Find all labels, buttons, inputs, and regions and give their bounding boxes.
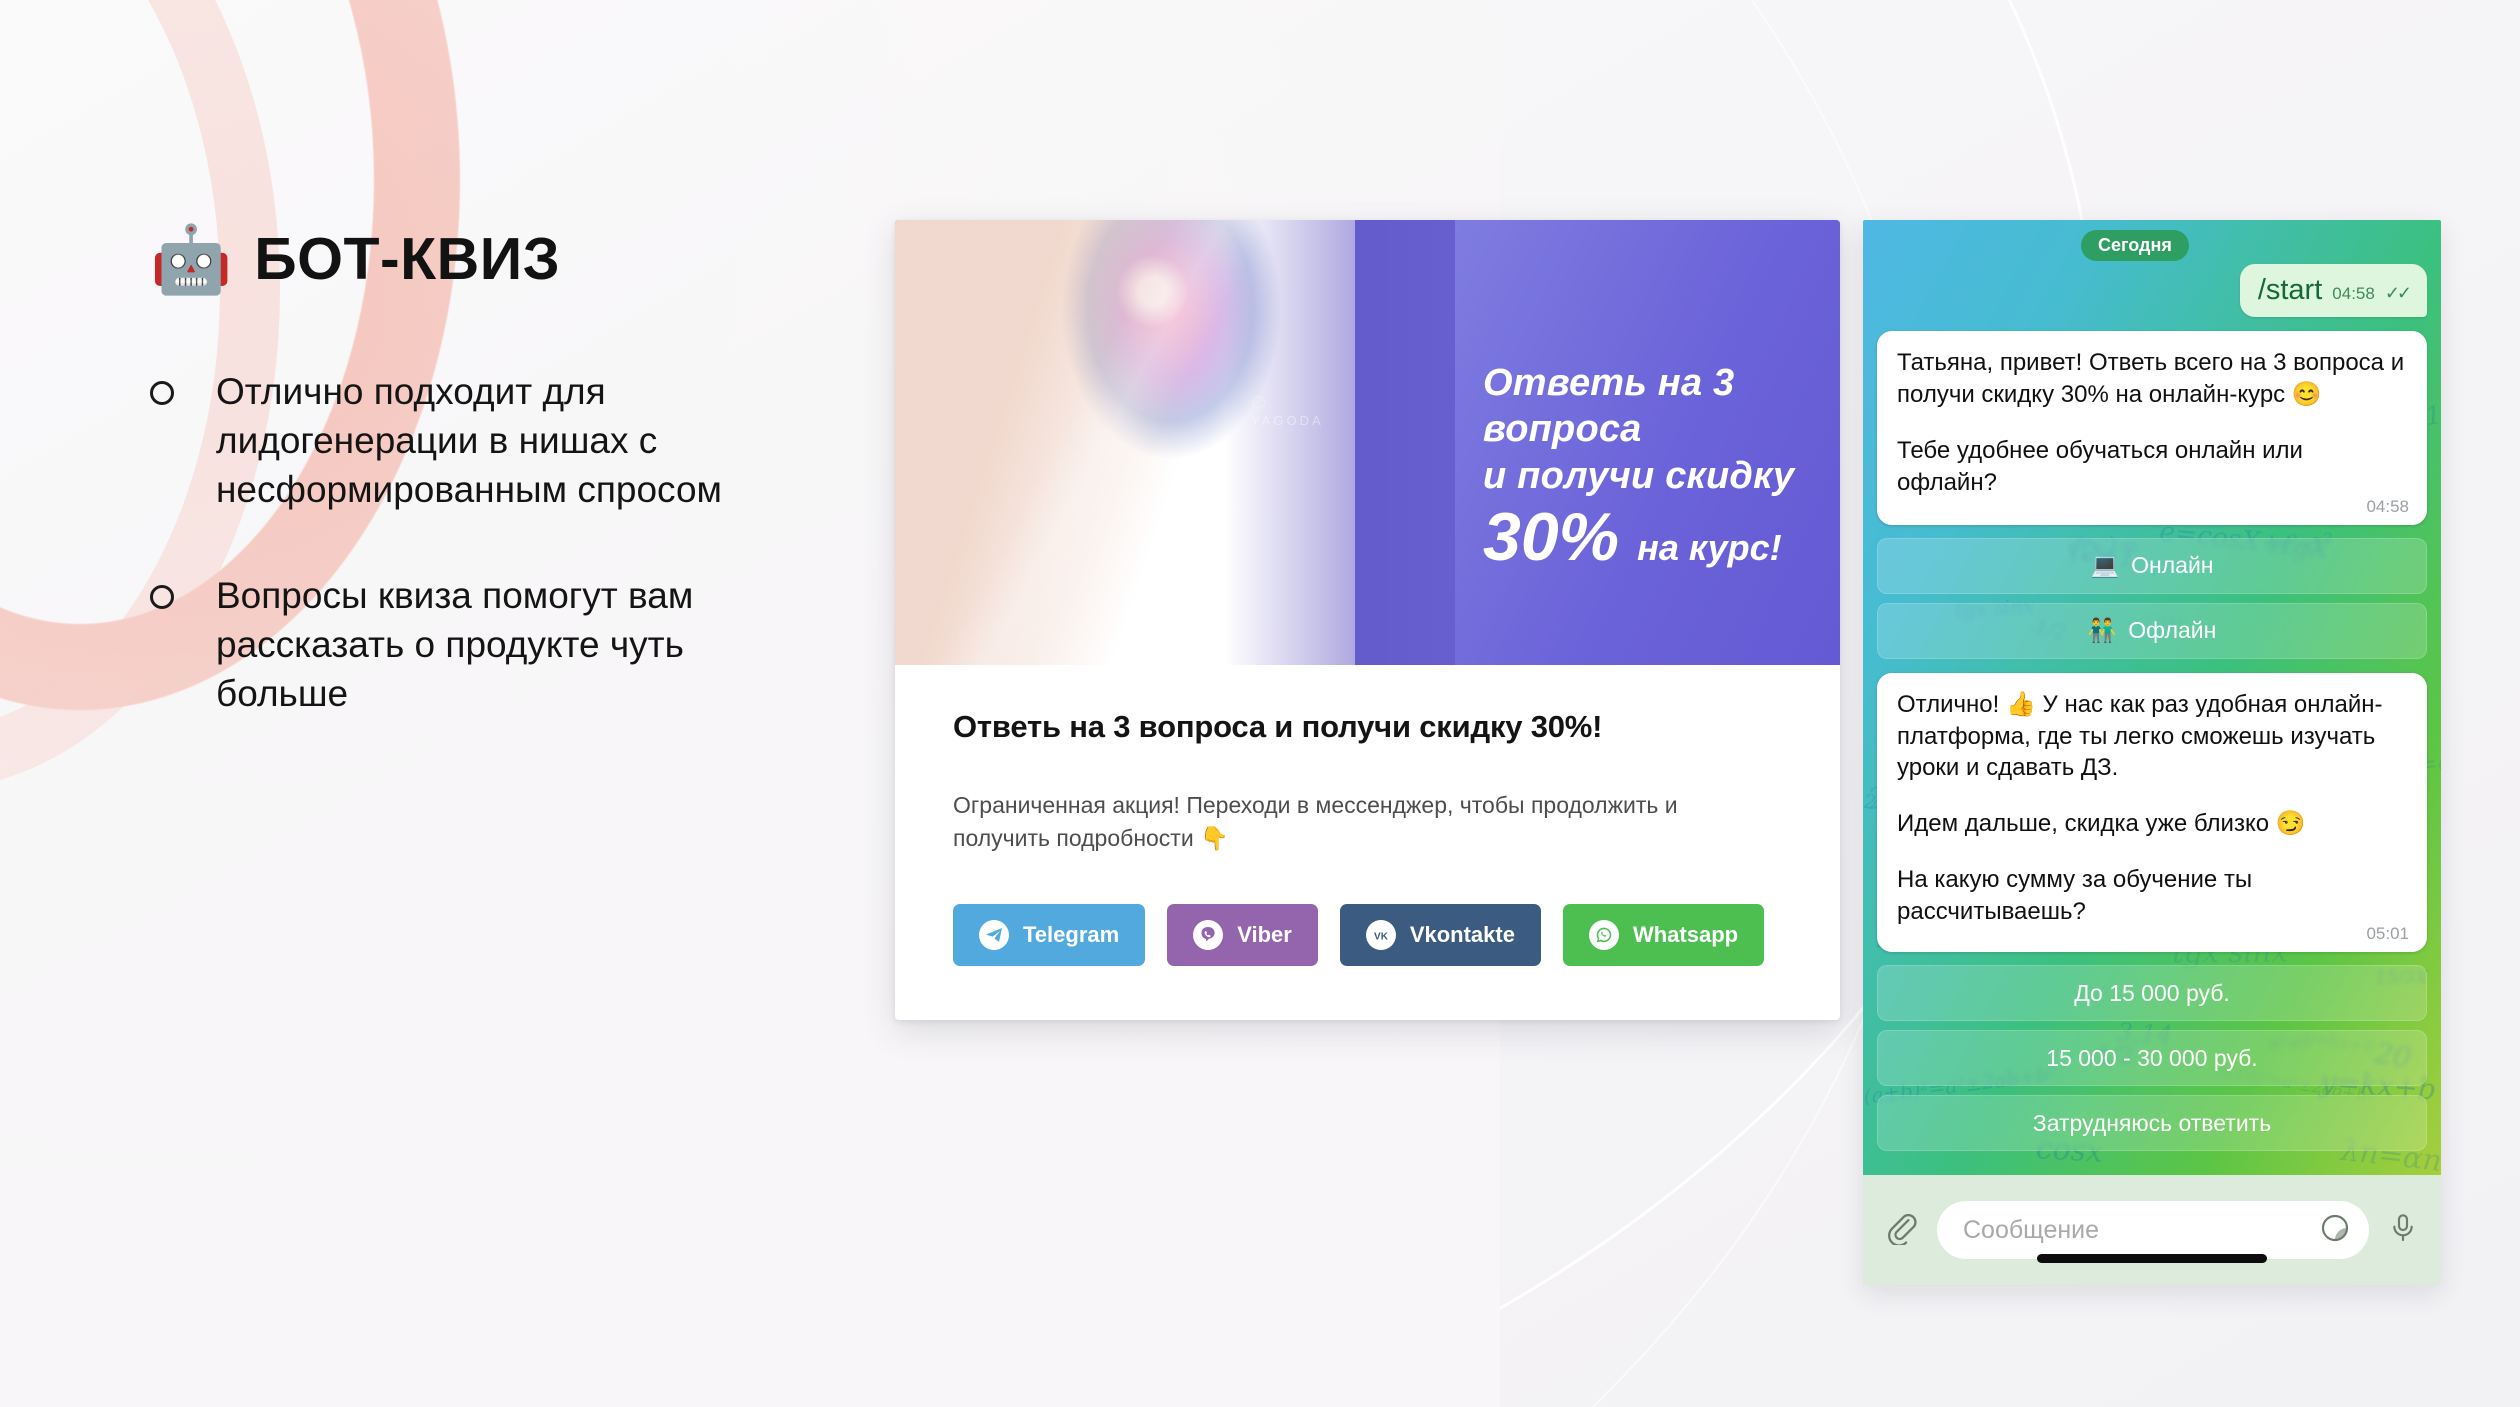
bullet-marker-icon: [150, 585, 174, 609]
reply-button-label: Затрудняюсь ответить: [2033, 1110, 2271, 1137]
slide-left-column: 🤖 БОТ-КВИЗ Отлично подходит для лидогене…: [150, 225, 790, 774]
telegram-button-label: Telegram: [1023, 922, 1119, 948]
robot-face-icon: 🤖: [150, 226, 232, 292]
paragraph-gap: [1897, 784, 2407, 808]
promo-subtext: Ограниченная акция! Переходи в мессендже…: [953, 789, 1773, 856]
bot-message-time: 04:58: [2366, 497, 2409, 517]
whatsapp-button-label: Whatsapp: [1633, 922, 1738, 948]
telegram-button[interactable]: Telegram: [953, 904, 1145, 966]
bot-message-time: 05:01: [2366, 924, 2409, 944]
reply-button-budget-low[interactable]: До 15 000 руб.: [1877, 965, 2427, 1021]
viber-button-label: Viber: [1237, 922, 1292, 948]
banner-percent-row: 30% на курс!: [1483, 503, 1814, 571]
bullet-list: Отлично подходит для лидогенерации в ниш…: [150, 367, 790, 718]
bot-message-paragraph: Тебе удобнее обучаться онлайн или офлайн…: [1897, 435, 2407, 499]
brand-watermark: ◌ YAGODA: [1251, 390, 1324, 428]
telegram-icon: [979, 920, 1009, 950]
paragraph-gap: [1897, 840, 2407, 864]
promo-heading: Ответь на 3 вопроса и получи скидку 30%!: [953, 709, 1782, 745]
bot-message-bubble-2[interactable]: Отлично! 👍 У нас как раз удобная онлайн-…: [1877, 673, 2427, 952]
reply-button-budget-unsure[interactable]: Затрудняюсь ответить: [1877, 1095, 2427, 1151]
microphone-icon[interactable]: [2387, 1212, 2419, 1249]
whatsapp-icon: [1589, 920, 1619, 950]
bot-message-paragraph: Татьяна, привет! Ответь всего на 3 вопро…: [1897, 347, 2407, 411]
reply-button-online[interactable]: 💻 Онлайн: [1877, 538, 2427, 594]
message-input-placeholder: Сообщение: [1963, 1216, 2099, 1245]
chat-input-bar: Сообщение: [1863, 1175, 2441, 1285]
reply-button-label: Офлайн: [2128, 617, 2216, 644]
page-title-row: 🤖 БОТ-КВИЗ: [150, 225, 790, 293]
svg-text:VK: VK: [1374, 931, 1389, 942]
bot-message-paragraph: Идем дальше, скидка уже близко 😏: [1897, 808, 2407, 840]
vkontakte-button[interactable]: VK Vkontakte: [1340, 904, 1541, 966]
bot-message-paragraph: Отлично! 👍 У нас как раз удобная онлайн-…: [1897, 689, 2407, 785]
outgoing-message-time: 04:58: [2332, 284, 2375, 304]
two-people-icon: 👬: [2088, 617, 2117, 644]
list-item: Вопросы квиза помогут вам рассказать о п…: [150, 571, 790, 719]
laptop-icon: 💻: [2091, 552, 2120, 579]
chat-message-list[interactable]: Сегодня /start 04:58 ✓✓ Татьяна, привет!…: [1863, 220, 2441, 1175]
banner-text-block: Ответь на 3 вопроса и получи скидку 30% …: [1483, 360, 1814, 571]
reply-button-label: До 15 000 руб.: [2074, 980, 2230, 1007]
banner-line-1: Ответь на 3 вопроса: [1483, 360, 1814, 453]
chat-date-divider: Сегодня: [2081, 230, 2189, 261]
double-check-icon: ✓✓: [2385, 283, 2409, 304]
message-input-field[interactable]: Сообщение: [1937, 1201, 2369, 1259]
home-indicator: [2037, 1254, 2267, 1263]
outgoing-message-row: /start 04:58 ✓✓: [1877, 264, 2427, 317]
vkontakte-icon: VK: [1366, 920, 1396, 950]
watermark-text: YAGODA: [1251, 413, 1324, 428]
banner-course-label: на курс!: [1637, 527, 1781, 569]
banner-percent: 30%: [1483, 503, 1619, 571]
reply-button-label: 15 000 - 30 000 руб.: [2046, 1045, 2257, 1072]
vkontakte-button-label: Vkontakte: [1410, 922, 1515, 948]
outgoing-message-text: /start: [2258, 274, 2322, 307]
sticker-icon[interactable]: [2319, 1212, 2351, 1249]
viber-button[interactable]: Viber: [1167, 904, 1318, 966]
reply-button-label: Онлайн: [2131, 552, 2213, 579]
messenger-button-group: Telegram Viber VK Vkontakte Whatsapp: [953, 904, 1782, 966]
reply-button-offline[interactable]: 👬 Офлайн: [1877, 603, 2427, 659]
paragraph-gap: [1897, 411, 2407, 435]
bot-message-bubble-1[interactable]: Татьяна, привет! Ответь всего на 3 вопро…: [1877, 331, 2427, 525]
watermark-glyph: ◌: [1251, 390, 1324, 413]
reply-button-budget-mid[interactable]: 15 000 - 30 000 руб.: [1877, 1030, 2427, 1086]
outgoing-message-bubble[interactable]: /start 04:58 ✓✓: [2240, 264, 2427, 317]
promo-card: ◌ YAGODA Ответь на 3 вопроса и получи ск…: [895, 220, 1840, 1020]
promo-banner: ◌ YAGODA Ответь на 3 вопроса и получи ск…: [895, 220, 1840, 665]
bot-message-paragraph: На какую сумму за обучение ты рассчитыва…: [1897, 864, 2407, 928]
telegram-chat-panel: (a±b)²=a²±2ab+b²e=cosX+tgXD=b²-4acsin α1…: [1863, 220, 2441, 1285]
paperclip-icon[interactable]: [1885, 1211, 1919, 1250]
bullet-text: Вопросы квиза помогут вам рассказать о п…: [216, 571, 746, 719]
viber-icon: [1193, 920, 1223, 950]
bullet-marker-icon: [150, 381, 174, 405]
whatsapp-button[interactable]: Whatsapp: [1563, 904, 1764, 966]
list-item: Отлично подходит для лидогенерации в ниш…: [150, 367, 790, 515]
banner-line-2: и получи скидку: [1483, 453, 1814, 499]
page-title: БОТ-КВИЗ: [254, 225, 560, 293]
bullet-text: Отлично подходит для лидогенерации в ниш…: [216, 367, 746, 515]
promo-card-body: Ответь на 3 вопроса и получи скидку 30%!…: [895, 665, 1840, 966]
